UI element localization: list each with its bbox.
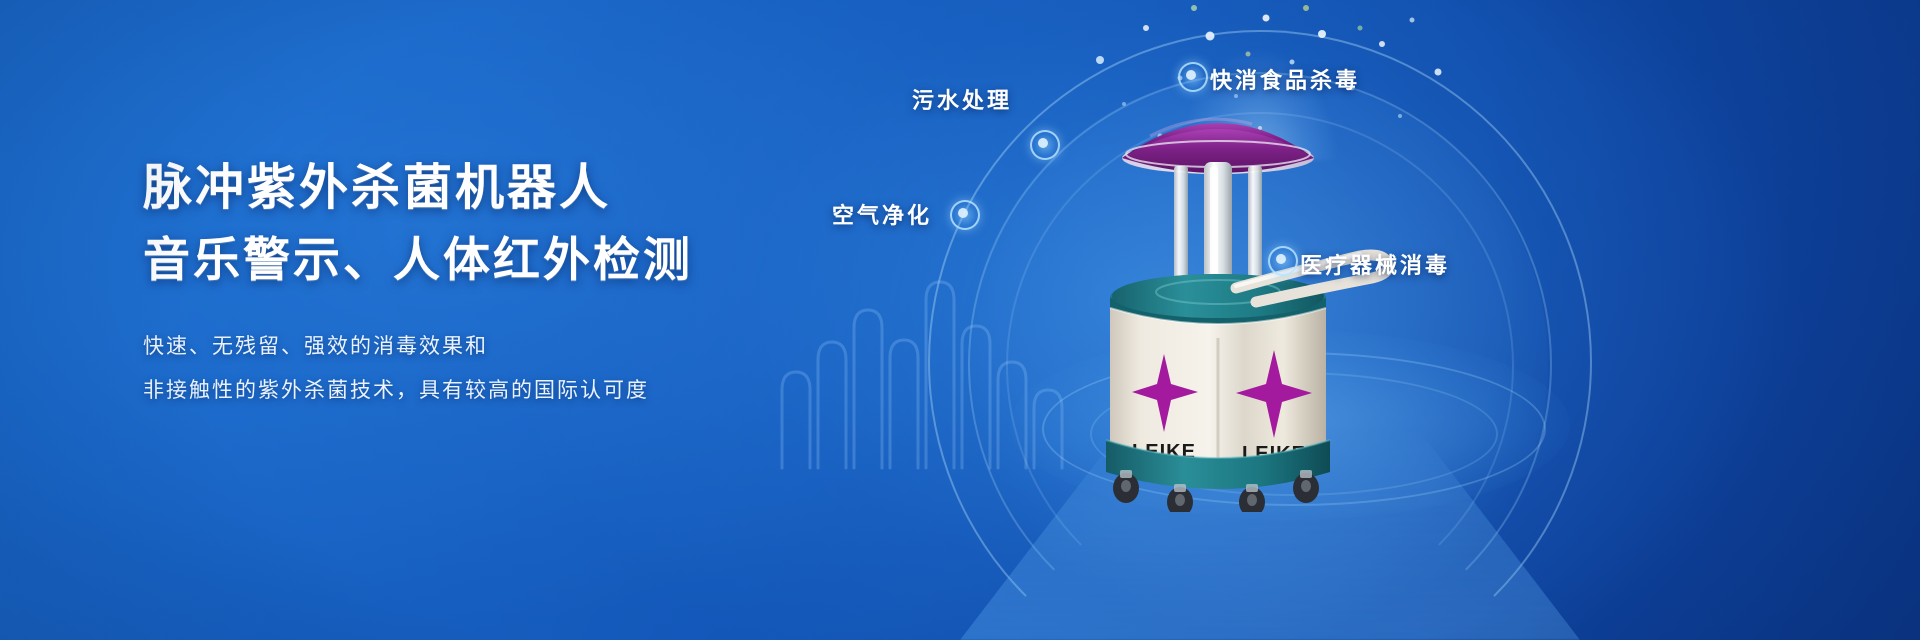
- feature-marker-medical-device-disinfection: [1268, 246, 1298, 276]
- promo-banner: 脉冲紫外杀菌机器人 音乐警示、人体红外检测 快速、无残留、强效的消毒效果和 非接…: [0, 0, 1920, 640]
- headline-block: 脉冲紫外杀菌机器人 音乐警示、人体红外检测 快速、无残留、强效的消毒效果和 非接…: [143, 150, 863, 412]
- subtext-block: 快速、无残留、强效的消毒效果和 非接触性的紫外杀菌技术，具有较高的国际认可度: [143, 324, 863, 412]
- feature-marker-air-purification: [950, 200, 980, 230]
- headline-line-1: 脉冲紫外杀菌机器人: [143, 150, 863, 224]
- feature-label-medical-device-disinfection: 医疗器械消毒: [1300, 248, 1450, 280]
- feature-label-wastewater-treatment: 污水处理: [912, 83, 1012, 115]
- feature-marker-wastewater-treatment: [1030, 130, 1060, 160]
- feature-label-fmcg-food-sterilization: 快消食品杀毒: [1210, 63, 1360, 95]
- headline-line-2: 音乐警示、人体红外检测: [143, 224, 863, 298]
- subtext-line-2: 非接触性的紫外杀菌技术，具有较高的国际认可度: [143, 368, 863, 412]
- feature-label-air-purification: 空气净化: [832, 198, 932, 230]
- product-scene: LEIKE LEIKE: [760, 0, 1920, 640]
- feature-marker-fmcg-food-sterilization: [1178, 62, 1208, 92]
- uv-disinfection-robot: LEIKE LEIKE: [1040, 92, 1540, 512]
- subtext-line-1: 快速、无残留、强效的消毒效果和: [143, 324, 863, 368]
